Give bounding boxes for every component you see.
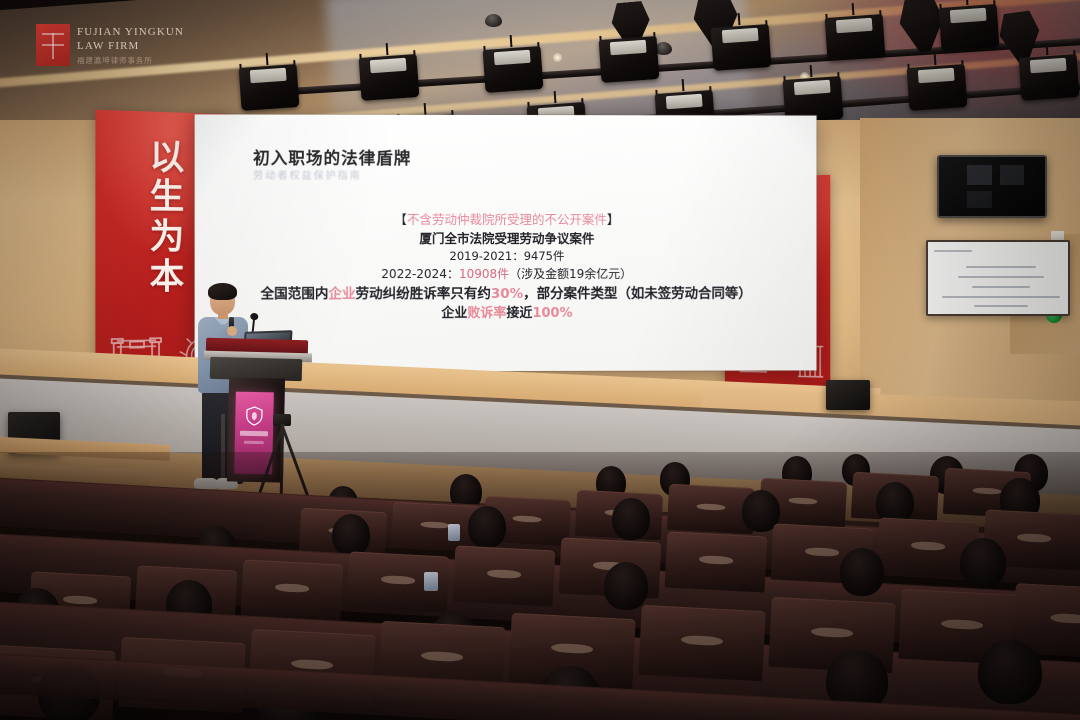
watermark-line-1: FUJIAN YINGKUN — [77, 26, 184, 40]
seat — [391, 502, 479, 552]
stage-light-icon — [238, 60, 299, 114]
dome-camera-icon — [485, 14, 502, 27]
slide-line-1-highlight: 不含劳动仲裁院所受理的不公开案件 — [407, 212, 607, 227]
law-firm-logo-icon — [36, 24, 70, 66]
seat — [453, 545, 556, 606]
slide-line-6-c: 接近 — [506, 306, 532, 321]
stage-light-icon — [710, 20, 771, 74]
banner-left-text: 以生为本 — [139, 137, 190, 298]
slide-line-2: 厦门全市法院受理劳动争议案件 — [195, 229, 817, 248]
slide-line-5-c: 劳动纠纷胜诉率只有约 — [356, 286, 491, 302]
slide-line-5: 全国范围内企业劳动纠纷胜诉率只有约30%，部分案件类型（如未签劳动合同等） — [195, 284, 817, 305]
slide-line-6-pct: 100% — [532, 306, 572, 321]
slide-body: 【不含劳动仲裁院所受理的不公开案件】 厦门全市法院受理劳动争议案件 2019-2… — [195, 210, 817, 325]
slide-line-4-amount: （涉及金额19余亿元） — [509, 267, 632, 281]
audience-head — [840, 548, 884, 596]
audience-phone — [424, 572, 438, 591]
audience-head — [960, 538, 1006, 588]
slide-line-5-enterprise: 企业 — [328, 286, 355, 302]
bracket-close: 】 — [607, 212, 619, 227]
stage-light-icon — [906, 60, 967, 114]
seat — [638, 605, 765, 681]
wall-monitor — [937, 155, 1047, 218]
audience-head — [332, 514, 370, 556]
bracket-open: 【 — [394, 212, 407, 227]
slide-line-6: 企业败诉率接近100% — [195, 304, 817, 324]
stage-light-icon — [598, 32, 659, 86]
ceiling-downlight — [553, 53, 562, 62]
audience-head — [612, 498, 650, 540]
auditorium-photo: 以生为本 以师为尊 — [0, 0, 1080, 720]
slide-line-5-a: 全国范围内 — [260, 286, 328, 302]
seat — [665, 531, 768, 592]
side-display-screen — [926, 240, 1070, 316]
slide-line-1: 【不含劳动仲裁院所受理的不公开案件】 — [195, 210, 817, 229]
slide-line-4-years: 2022-2024： — [381, 267, 459, 281]
slide-line-5-rate: 30% — [491, 286, 523, 302]
audience-area — [0, 452, 1080, 720]
audience-phone — [448, 524, 460, 541]
slide-title: 初入职场的法律盾牌 — [253, 145, 411, 169]
slide-line-6-loss-rate: 败诉率 — [467, 306, 506, 321]
stage-speaker-right — [826, 380, 870, 410]
slide-line-4: 2022-2024：10908件（涉及金额19余亿元） — [195, 265, 817, 284]
audience-head — [604, 562, 648, 610]
slide-line-3: 2019-2021：9475件 — [195, 248, 817, 266]
slide-subtitle: 劳动者权益保护指南 — [253, 167, 362, 182]
stage-light-icon — [358, 50, 419, 104]
slide-line-4-count: 10908件 — [459, 267, 509, 281]
audience-head — [978, 640, 1042, 704]
stage-light-icon — [1018, 50, 1079, 104]
stage-light-icon — [938, 0, 999, 54]
seat — [241, 559, 344, 620]
stage-light-icon — [824, 10, 885, 64]
watermark-line-3: 福建瀛坤律师事务所 — [77, 55, 184, 66]
stage-light-icon — [482, 42, 543, 96]
watermark-line-2: LAW FIRM — [77, 40, 184, 54]
watermark: FUJIAN YINGKUN LAW FIRM 福建瀛坤律师事务所 — [36, 24, 184, 66]
audience-head — [468, 506, 506, 548]
slide-line-6-a: 企业 — [441, 306, 467, 321]
slide-line-5-e: ，部分案件类型（如未签劳动合同等） — [523, 286, 752, 302]
